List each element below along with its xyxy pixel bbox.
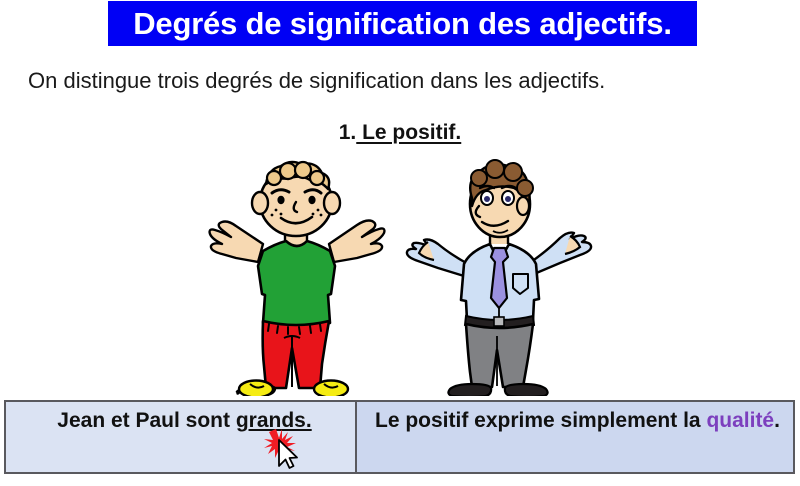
man-figure [407,160,591,396]
statement-table: Jean et Paul sont grands. Le positif exp… [4,400,795,474]
section-heading: 1. Le positif. [0,121,800,145]
figures-svg [0,158,800,396]
section-number: 1. [339,121,357,144]
definition-accent-word: qualité [706,409,774,432]
definition-suffix: . [774,409,780,432]
boy-figure [210,162,385,396]
example-cell[interactable]: Jean et Paul sont grands. [6,402,357,472]
example-underlined-word: grands. [236,409,312,432]
page-title: Degrés de signification des adjectifs. [133,8,672,39]
section-label: Le positif. [356,121,461,144]
example-prefix: Jean et Paul sont [57,409,236,432]
slide-title-banner: Degrés de signification des adjectifs. [108,1,697,46]
intro-sentence: On distingue trois degrés de significati… [28,68,605,94]
illustration-two-figures [0,158,800,396]
definition-prefix: Le positif exprime simplement la [375,409,706,432]
definition-cell[interactable]: Le positif exprime simplement la qualité… [357,402,793,472]
